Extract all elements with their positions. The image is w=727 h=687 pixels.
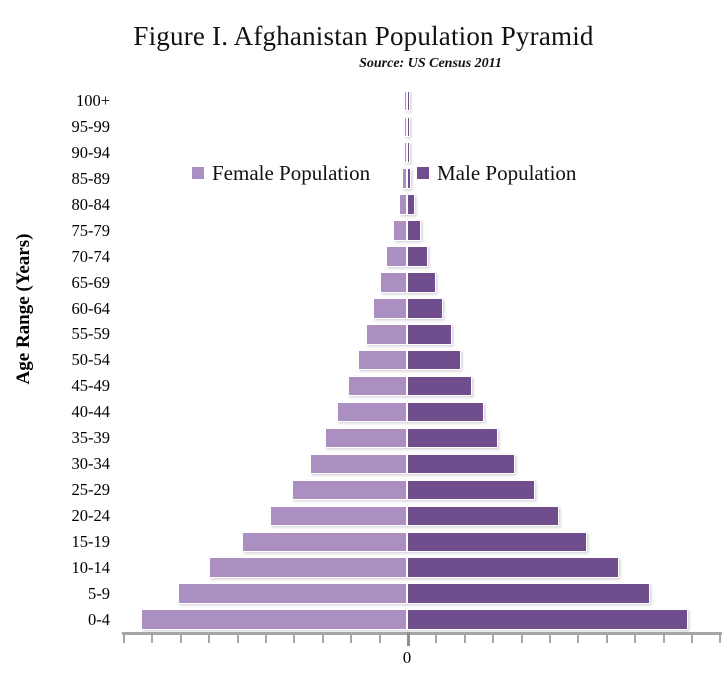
bar-female[interactable] [209, 557, 407, 578]
x-axis-tick [407, 632, 410, 646]
bar-female[interactable] [380, 272, 407, 293]
pyramid-row: 15-19 [122, 529, 722, 555]
chart-source-note: Source: US Census 2011 [0, 56, 727, 72]
x-axis-tick [663, 632, 665, 643]
x-axis-tick [379, 632, 381, 643]
bar-male[interactable] [407, 246, 428, 267]
age-range-label: 70-74 [72, 244, 111, 270]
age-range-label: 50-54 [72, 347, 111, 373]
age-range-label: 40-44 [72, 399, 111, 425]
x-axis-tick [492, 632, 494, 643]
y-axis-title: Age Range (Years) [13, 199, 35, 419]
age-range-label: 55-59 [72, 321, 111, 347]
pyramid-row: 40-44 [122, 399, 722, 425]
x-axis-tick [521, 632, 523, 643]
bar-male[interactable] [407, 402, 484, 423]
x-axis-tick [435, 632, 437, 643]
plot-area: 100+95-9990-9485-8980-8475-7970-7465-696… [122, 88, 722, 633]
x-axis-tick [208, 632, 210, 643]
pyramid-row: 0-4 [122, 607, 722, 633]
age-range-label: 25-29 [72, 477, 111, 503]
bar-male[interactable] [407, 454, 515, 475]
bar-male[interactable] [407, 428, 498, 449]
age-range-label: 75-79 [72, 218, 111, 244]
bar-male[interactable] [407, 609, 688, 630]
pyramid-row: 25-29 [122, 477, 722, 503]
x-axis-tick [691, 632, 693, 643]
age-range-label: 15-19 [72, 529, 111, 555]
bar-female[interactable] [393, 220, 407, 241]
bar-female[interactable] [366, 324, 407, 345]
chart-title: Figure I. Afghanistan Population Pyramid [0, 20, 727, 52]
pyramid-row: 60-64 [122, 296, 722, 322]
bar-male[interactable] [407, 168, 411, 189]
pyramid-row: 85-89 [122, 166, 722, 192]
bar-female[interactable] [348, 376, 407, 397]
pyramid-row: 5-9 [122, 581, 722, 607]
bar-female[interactable] [325, 428, 407, 449]
pyramid-row: 45-49 [122, 373, 722, 399]
x-axis-tick [237, 632, 239, 643]
pyramid-row: 100+ [122, 88, 722, 114]
x-axis-tick [577, 632, 579, 643]
pyramid-row: 65-69 [122, 270, 722, 296]
pyramid-row: 90-94 [122, 140, 722, 166]
age-range-label: 65-69 [72, 270, 111, 296]
age-range-label: 20-24 [72, 503, 111, 529]
bar-male[interactable] [407, 194, 415, 215]
age-range-label: 60-64 [72, 296, 111, 322]
bar-female[interactable] [292, 480, 407, 501]
x-axis-tick [151, 632, 153, 643]
bar-male[interactable] [407, 298, 443, 319]
pyramid-row: 75-79 [122, 218, 722, 244]
x-axis-tick [350, 632, 352, 643]
age-range-label: 35-39 [72, 425, 111, 451]
pyramid-row: 70-74 [122, 244, 722, 270]
x-axis-tick [549, 632, 551, 643]
bar-male[interactable] [407, 557, 619, 578]
bar-female[interactable] [141, 609, 407, 630]
x-axis-tick [180, 632, 182, 643]
bar-female[interactable] [178, 583, 407, 604]
age-range-label: 95-99 [72, 114, 111, 140]
x-axis-tick [293, 632, 295, 643]
age-range-label: 100+ [76, 88, 110, 114]
bar-male[interactable] [407, 376, 472, 397]
age-range-label: 0-4 [88, 607, 110, 633]
bar-female[interactable] [270, 506, 407, 527]
pyramid-row: 30-34 [122, 451, 722, 477]
age-range-label: 45-49 [72, 373, 111, 399]
bar-female[interactable] [373, 298, 407, 319]
pyramid-row: 35-39 [122, 425, 722, 451]
x-axis-tick [464, 632, 466, 643]
x-axis-tick [634, 632, 636, 643]
age-range-label: 90-94 [72, 140, 111, 166]
bar-male[interactable] [407, 91, 410, 112]
x-axis-tick [265, 632, 267, 643]
bar-male[interactable] [407, 480, 535, 501]
x-axis-zero-label: 0 [403, 648, 412, 668]
bar-male[interactable] [407, 532, 587, 553]
pyramid-row: 50-54 [122, 347, 722, 373]
x-axis-tick [123, 632, 125, 643]
pyramid-row: 55-59 [122, 321, 722, 347]
age-range-label: 80-84 [72, 192, 111, 218]
bar-female[interactable] [242, 532, 407, 553]
x-axis-tick [606, 632, 608, 643]
title-block: Figure I. Afghanistan Population Pyramid [0, 20, 727, 52]
age-range-label: 5-9 [88, 581, 110, 607]
age-range-label: 85-89 [72, 166, 111, 192]
bar-male[interactable] [407, 583, 650, 604]
bar-male[interactable] [407, 142, 410, 163]
pyramid-row: 20-24 [122, 503, 722, 529]
pyramid-row: 10-14 [122, 555, 722, 581]
bar-male[interactable] [407, 220, 421, 241]
bar-male[interactable] [407, 506, 559, 527]
bar-female[interactable] [310, 454, 407, 475]
x-axis-tick [719, 632, 721, 643]
age-range-label: 10-14 [72, 555, 111, 581]
age-range-label: 30-34 [72, 451, 111, 477]
bar-female[interactable] [399, 194, 407, 215]
pyramid-row: 95-99 [122, 114, 722, 140]
x-axis-tick [322, 632, 324, 643]
bar-female[interactable] [358, 350, 407, 371]
pyramid-row: 80-84 [122, 192, 722, 218]
bar-male[interactable] [407, 117, 410, 138]
x-axis-line [122, 632, 722, 635]
population-pyramid-chart: Figure I. Afghanistan Population Pyramid… [0, 0, 727, 687]
bar-male[interactable] [407, 272, 436, 293]
bar-male[interactable] [407, 350, 461, 371]
bar-male[interactable] [407, 324, 452, 345]
bar-female[interactable] [386, 246, 407, 267]
bar-female[interactable] [337, 402, 407, 423]
